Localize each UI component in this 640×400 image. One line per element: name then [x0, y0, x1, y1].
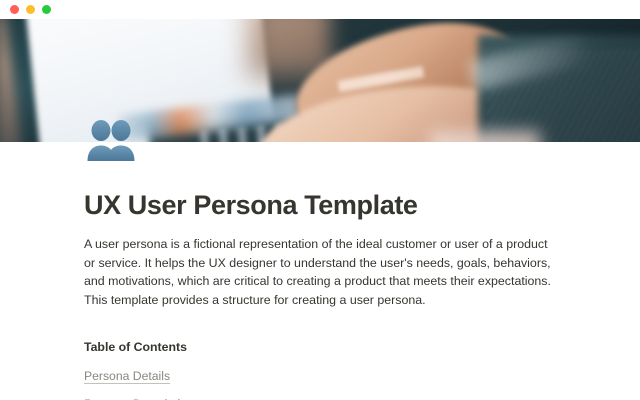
page-intro-paragraph: A user persona is a fictional representa…: [84, 235, 556, 309]
app-window: UX User Persona Template A user persona …: [0, 0, 640, 400]
table-of-contents-list: Persona Details Persona Description: [84, 368, 556, 400]
table-of-contents-heading: Table of Contents: [84, 339, 556, 356]
list-item: Persona Details: [84, 368, 556, 384]
window-titlebar: [0, 0, 640, 19]
list-item: Persona Description: [84, 396, 556, 400]
close-window-button[interactable]: [10, 5, 19, 14]
toc-link-persona-details[interactable]: Persona Details: [84, 369, 170, 383]
maximize-window-button[interactable]: [42, 5, 51, 14]
two-people-icon[interactable]: [84, 119, 140, 161]
page-content: UX User Persona Template A user persona …: [0, 142, 640, 400]
minimize-window-button[interactable]: [26, 5, 35, 14]
page-title: UX User Persona Template: [84, 189, 556, 221]
